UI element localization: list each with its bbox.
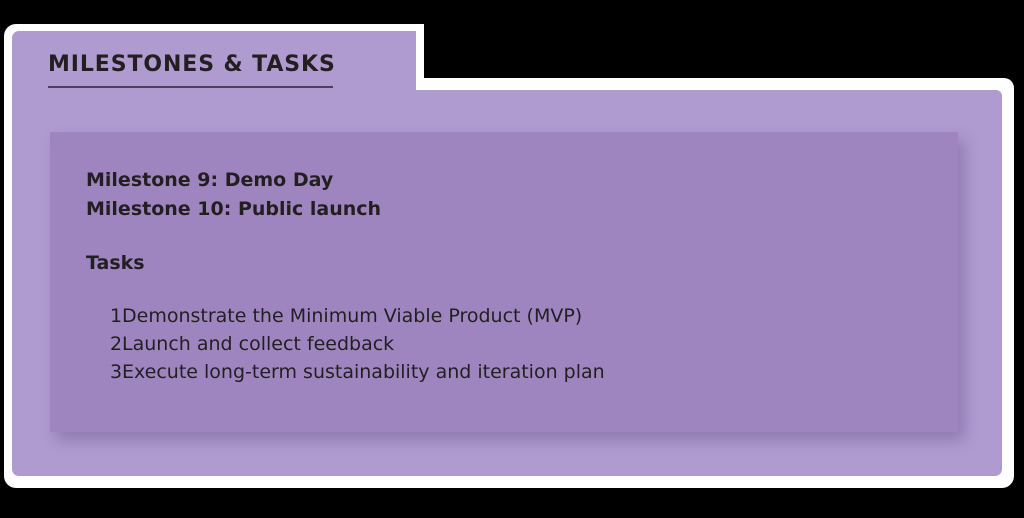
list-item-number: 2. bbox=[86, 330, 122, 358]
list-item: 3. Execute long-term sustainability and … bbox=[86, 358, 605, 386]
milestones-block: Milestone 9: Demo Day Milestone 10: Publ… bbox=[86, 166, 381, 224]
slide-canvas: MILESTONES & TASKS Milestone 9: Demo Day… bbox=[0, 0, 1024, 518]
tasks-list: 1. Demonstrate the Minimum Viable Produc… bbox=[86, 302, 605, 386]
title-underline-rule bbox=[48, 86, 333, 88]
milestone-line: Milestone 9: Demo Day bbox=[86, 166, 381, 195]
list-item-label: Demonstrate the Minimum Viable Product (… bbox=[122, 302, 582, 330]
list-item-label: Execute long-term sustainability and ite… bbox=[122, 358, 605, 386]
list-item-number: 3. bbox=[86, 358, 122, 386]
list-item: 1. Demonstrate the Minimum Viable Produc… bbox=[86, 302, 605, 330]
tasks-heading: Tasks bbox=[86, 254, 145, 273]
list-item: 2. Launch and collect feedback bbox=[86, 330, 605, 358]
content-panel: Milestone 9: Demo Day Milestone 10: Publ… bbox=[50, 132, 958, 432]
list-item-number: 1. bbox=[86, 302, 122, 330]
list-item-label: Launch and collect feedback bbox=[122, 330, 394, 358]
card-header: MILESTONES & TASKS bbox=[48, 54, 468, 88]
milestone-line: Milestone 10: Public launch bbox=[86, 195, 381, 224]
page-title: MILESTONES & TASKS bbox=[48, 54, 468, 76]
